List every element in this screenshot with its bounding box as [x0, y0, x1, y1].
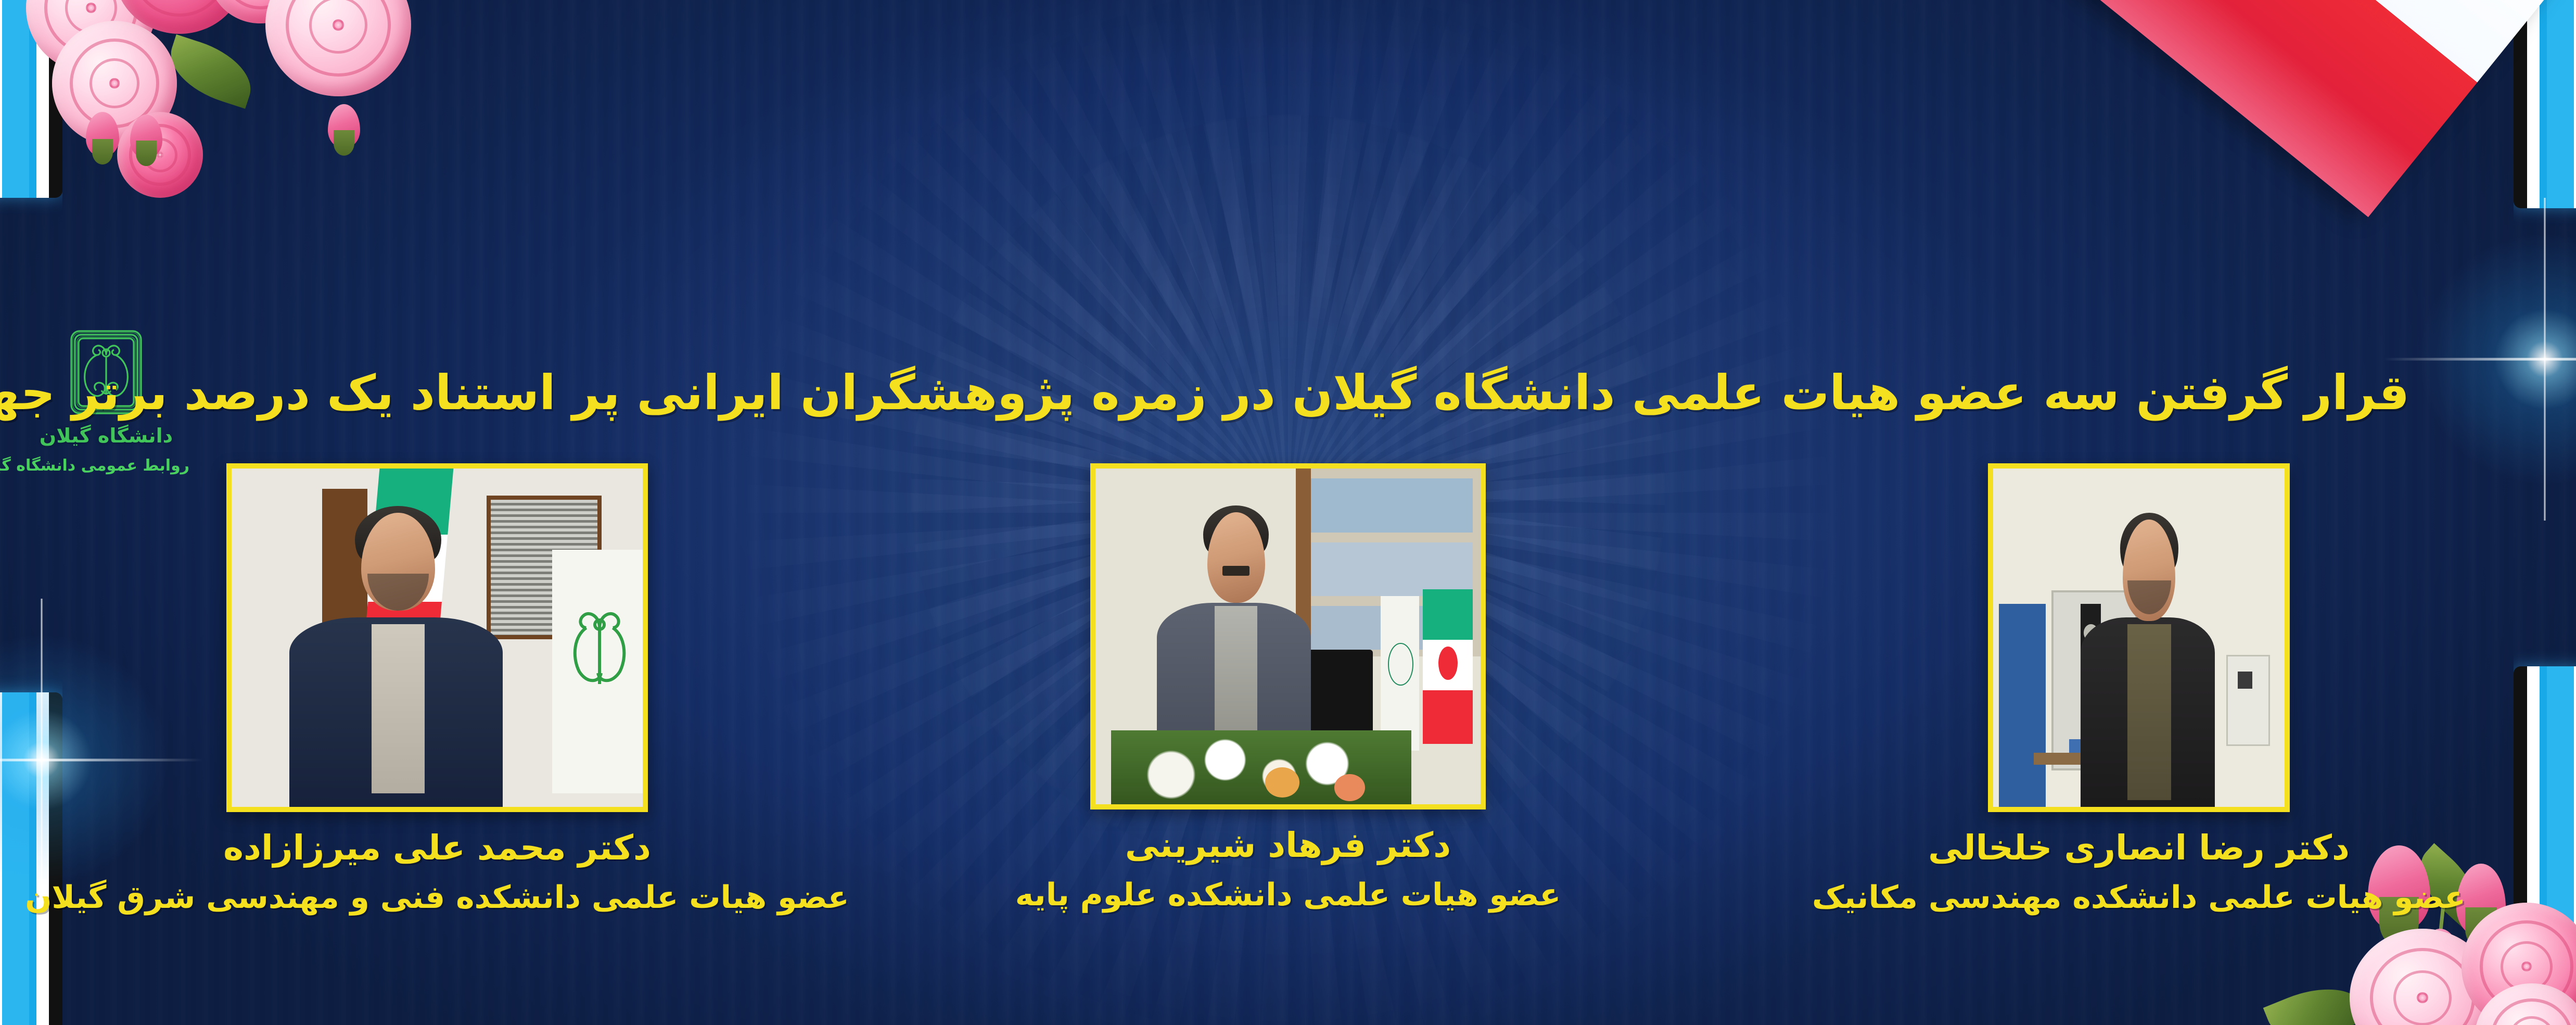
announcement-banner: الله اکبر الله اکبر الله اکبر الله اکبر …: [0, 0, 2576, 1025]
university-banner-emblem-icon: [560, 570, 639, 732]
honoree-card: دکتر رضا انصاری خلخالی عضو هیات علمی دان…: [1780, 463, 2498, 916]
honoree-name: دکتر فرهاد شیرینی: [1125, 825, 1451, 865]
honoree-card: دکتر فرهاد شیرینی عضو هیات علمی دانشکده …: [929, 463, 1647, 913]
right-edge-frame: [2514, 0, 2576, 1025]
honoree-role: عضو هیات علمی دانشکده فنی و مهندسی شرق گ…: [25, 879, 849, 916]
left-edge-frame: [0, 0, 62, 1025]
honoree-name: دکتر رضا انصاری خلخالی: [1928, 828, 2350, 868]
honoree-card: دکتر محمد علی میرزازاده عضو هیات علمی دا…: [78, 463, 796, 916]
honoree-photo: [1988, 463, 2290, 812]
honoree-role: عضو هیات علمی دانشکده مهندسی مکانیک: [1812, 879, 2466, 916]
honoree-photo: [1090, 463, 1486, 809]
honoree-photo: [226, 463, 648, 812]
page-title: قرار گرفتن سه عضو هیات علمی دانشگاه گیلا…: [198, 365, 2409, 421]
logo-wordmark: دانشگاه گیلان: [23, 424, 189, 447]
honoree-role: عضو هیات علمی دانشکده علوم پایه: [1015, 877, 1561, 913]
honoree-name: دکتر محمد علی میرزازاده: [223, 828, 651, 868]
honorees-row: دکتر رضا انصاری خلخالی عضو هیات علمی دان…: [78, 463, 2498, 916]
